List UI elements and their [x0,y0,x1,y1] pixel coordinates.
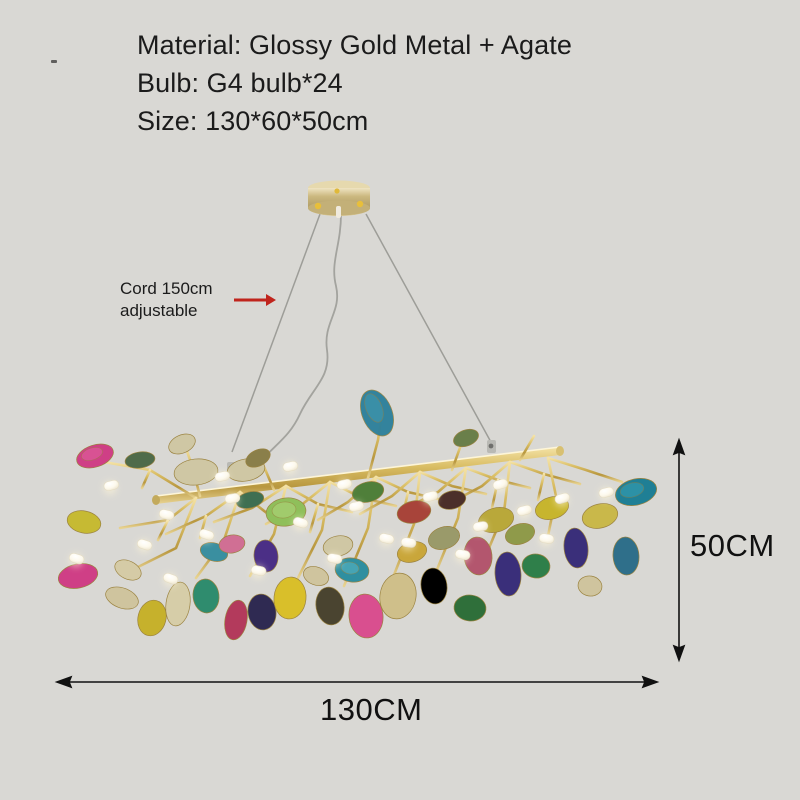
cord-annotation: Cord 150cm adjustable [120,278,213,322]
height-dimension-arrow [674,440,684,660]
cord-clamp-right [487,440,496,453]
ceiling-canopy [308,181,370,219]
specification-text: Material: Glossy Gold Metal + Agate Bulb… [137,26,572,140]
spec-bulb: Bulb: G4 bulb*24 [137,64,572,102]
width-dimension-label: 130CM [320,692,422,728]
spec-size: Size: 130*60*50cm [137,102,572,140]
cord-annotation-line2: adjustable [120,300,213,322]
spec-material: Material: Glossy Gold Metal + Agate [137,26,572,64]
cord-pointer-arrow [234,294,276,306]
cord-annotation-line1: Cord 150cm [120,278,213,300]
width-dimension-arrow [57,677,657,687]
product-image: Material: Glossy Gold Metal + Agate Bulb… [0,0,800,800]
height-dimension-label: 50CM [690,528,775,564]
